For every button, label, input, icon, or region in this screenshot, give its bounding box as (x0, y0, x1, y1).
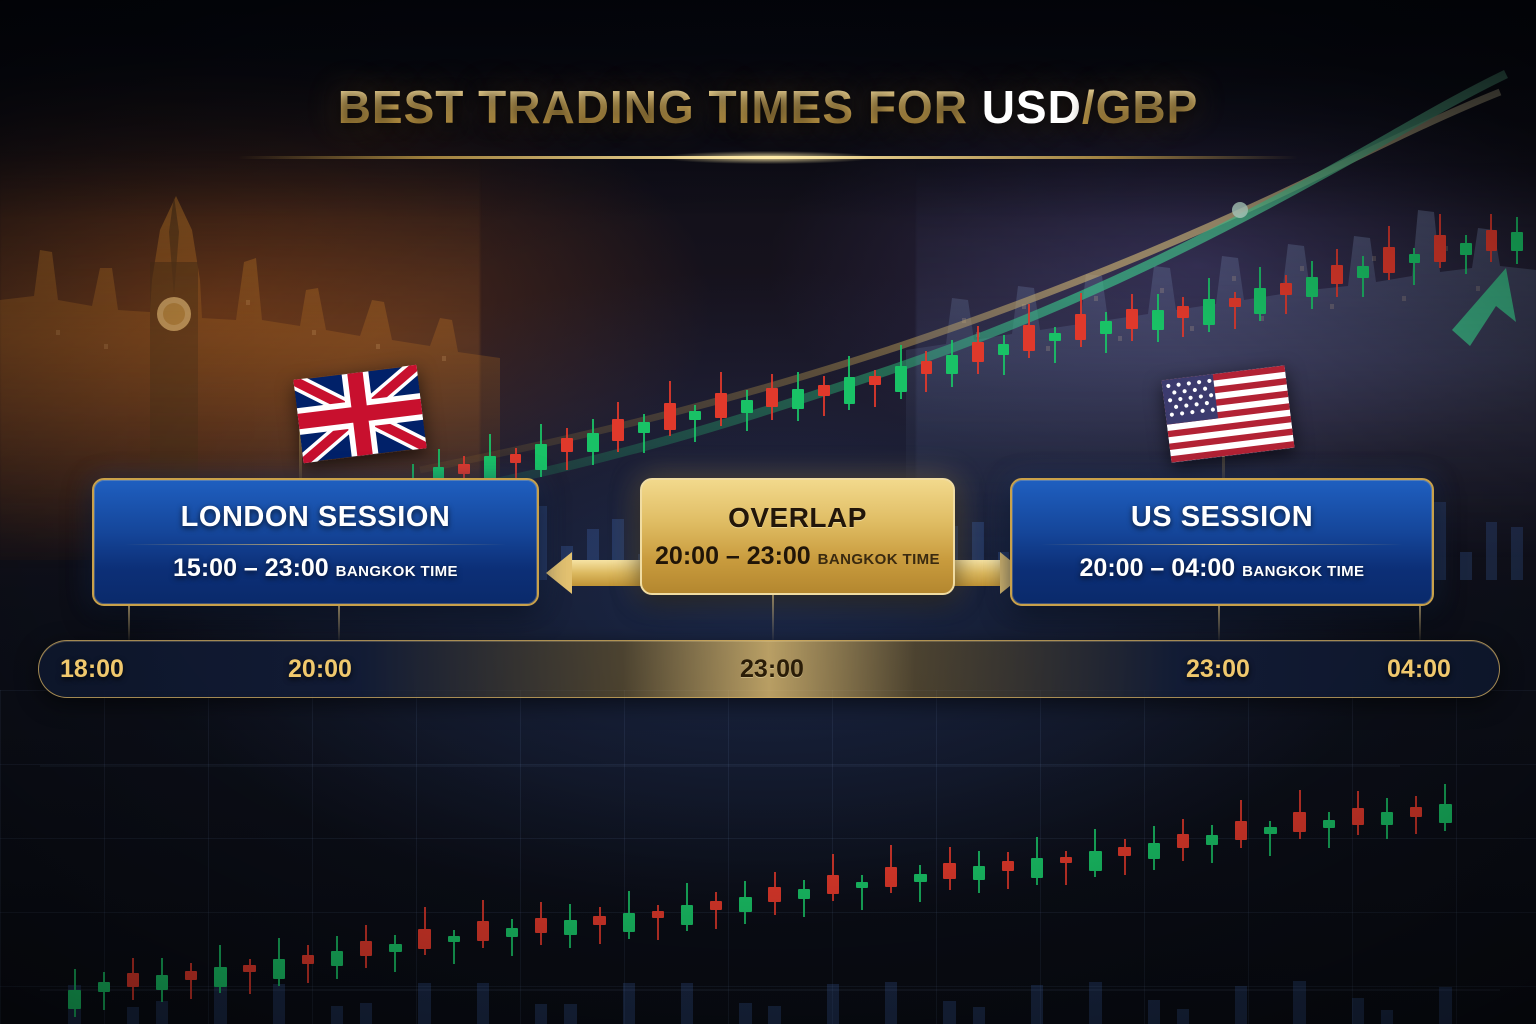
candlestick (1383, 190, 1395, 490)
overlap-arrow-left-head (546, 552, 572, 594)
candlestick (766, 190, 778, 490)
candlestick (98, 720, 110, 1020)
candlestick (681, 720, 693, 1020)
candlestick (214, 720, 226, 1020)
candlestick (448, 720, 460, 1020)
candlestick (243, 720, 255, 1020)
london-session-title: LONDON SESSION (181, 501, 451, 534)
candlestick (1323, 720, 1335, 1020)
candlestick (433, 190, 445, 490)
page-title-part-3: /GBP (1082, 81, 1198, 133)
candlestick (185, 720, 197, 1020)
candlestick (564, 720, 576, 1020)
uk-flag-icon (293, 365, 426, 463)
candlestick (856, 720, 868, 1020)
us-session-title: US SESSION (1131, 501, 1313, 534)
candlestick (652, 720, 664, 1020)
page-title-part-1: BEST TRADING TIMES FOR (338, 81, 982, 133)
candlestick (885, 720, 897, 1020)
timeline-tick-label[interactable]: 23:00 (1186, 655, 1250, 684)
infographic-canvas: BEST TRADING TIMES FOR USD/GBP (0, 0, 1536, 1024)
candlestick (612, 190, 624, 490)
candlestick (1357, 190, 1369, 490)
candlestick (1075, 190, 1087, 490)
candlestick (739, 720, 751, 1020)
candlestick (587, 190, 599, 490)
us-card-divider (1041, 544, 1402, 545)
candlestick (1002, 720, 1014, 1020)
candlestick (710, 720, 722, 1020)
candlestick (1177, 720, 1189, 1020)
candlestick (973, 720, 985, 1020)
candlestick (1293, 720, 1305, 1020)
candlestick (844, 190, 856, 490)
london-session-time: 15:00 – 23:00 (173, 554, 329, 582)
candlestick (1031, 720, 1043, 1020)
page-title-part-2: USD (982, 81, 1082, 133)
candlestick (741, 190, 753, 490)
candlestick (946, 190, 958, 490)
candlestick (1049, 190, 1061, 490)
candlestick (798, 720, 810, 1020)
candlestick (360, 720, 372, 1020)
london-session-hours: 15:00 – 23:00 BANGKOK TIME (173, 554, 458, 583)
candlestick (593, 720, 605, 1020)
candlestick (1410, 720, 1422, 1020)
candlestick (510, 190, 522, 490)
london-session-card[interactable]: LONDON SESSION 15:00 – 23:00 BANGKOK TIM… (92, 478, 539, 606)
candlestick (869, 190, 881, 490)
candlestick (1060, 720, 1072, 1020)
candlestick (484, 190, 496, 490)
london-card-divider (125, 544, 506, 545)
timeline-connector (1419, 606, 1421, 640)
candlestick (1352, 720, 1364, 1020)
candlestick (506, 720, 518, 1020)
timeline-connector (1218, 606, 1220, 640)
volume-bar (1460, 552, 1472, 580)
candlestick (623, 720, 635, 1020)
overlap-hours: 20:00 – 23:00 BANGKOK TIME (655, 542, 940, 571)
candlestick (273, 720, 285, 1020)
overlap-time: 20:00 – 23:00 (655, 542, 811, 570)
timeline-tick-label[interactable]: 23:00 (740, 655, 804, 684)
candlestick (972, 190, 984, 490)
candlestick (715, 190, 727, 490)
overlap-card[interactable]: OVERLAP 20:00 – 23:00 BANGKOK TIME (640, 478, 955, 595)
candlestick (1486, 190, 1498, 490)
volume-bar (1434, 502, 1446, 580)
candlestick (1152, 190, 1164, 490)
candlestick (1381, 720, 1393, 1020)
candlestick (418, 720, 430, 1020)
timeline-connector (338, 606, 340, 640)
candlestick (1089, 720, 1101, 1020)
candlestick (792, 190, 804, 490)
candlestick (914, 720, 926, 1020)
candlestick (1434, 190, 1446, 490)
candlestick (689, 190, 701, 490)
candlestick (1235, 720, 1247, 1020)
candlestick (1148, 720, 1160, 1020)
london-session-timezone: BANGKOK TIME (336, 563, 458, 580)
timeline-connector (772, 595, 774, 640)
us-flag-icon (1161, 365, 1294, 463)
us-session-time: 20:00 – 04:00 (1080, 554, 1236, 582)
timeline-connector (128, 606, 130, 640)
candlestick (1206, 720, 1218, 1020)
us-session-card[interactable]: US SESSION 20:00 – 04:00 BANGKOK TIME (1010, 478, 1434, 606)
timeline-tick-label[interactable]: 18:00 (60, 655, 124, 684)
candlestick (895, 190, 907, 490)
us-session-hours: 20:00 – 04:00 BANGKOK TIME (1080, 554, 1365, 583)
title-divider (238, 156, 1298, 159)
page-title-block: BEST TRADING TIMES FOR USD/GBP (0, 84, 1536, 130)
candlestick (1409, 190, 1421, 490)
candlestick (1126, 190, 1138, 490)
candlestick (1100, 190, 1112, 490)
candlestick (921, 190, 933, 490)
candlestick (1511, 190, 1523, 490)
candlestick (1023, 190, 1035, 490)
candlestick (818, 190, 830, 490)
candlestick (127, 720, 139, 1020)
candlestick (638, 190, 650, 490)
candlestick (535, 720, 547, 1020)
us-session-timezone: BANGKOK TIME (1242, 563, 1364, 580)
candlestick (827, 720, 839, 1020)
candlestick (561, 190, 573, 490)
timeline-tick-label[interactable]: 04:00 (1387, 655, 1451, 684)
candlestick (998, 190, 1010, 490)
overlap-title: OVERLAP (728, 502, 867, 534)
page-title: BEST TRADING TIMES FOR USD/GBP (0, 84, 1536, 130)
candlestick (1331, 190, 1343, 490)
candlestick (768, 720, 780, 1020)
candlestick (1264, 720, 1276, 1020)
timeline-tick-label[interactable]: 20:00 (288, 655, 352, 684)
candlestick (389, 720, 401, 1020)
upper-candlestick-chart (400, 190, 1530, 490)
candlestick (1439, 720, 1451, 1020)
lower-candlestick-chart (60, 720, 1460, 1020)
volume-bar (1486, 522, 1498, 580)
candlestick (156, 720, 168, 1020)
candlestick (1118, 720, 1130, 1020)
overlap-timezone: BANGKOK TIME (818, 551, 940, 568)
volume-bar (1511, 527, 1523, 580)
candlestick (664, 190, 676, 490)
candlestick (1460, 190, 1472, 490)
candlestick (331, 720, 343, 1020)
candlestick (458, 190, 470, 490)
candlestick (68, 720, 80, 1020)
candlestick (1306, 190, 1318, 490)
candlestick (477, 720, 489, 1020)
candlestick (302, 720, 314, 1020)
candlestick (943, 720, 955, 1020)
candlestick (535, 190, 547, 490)
